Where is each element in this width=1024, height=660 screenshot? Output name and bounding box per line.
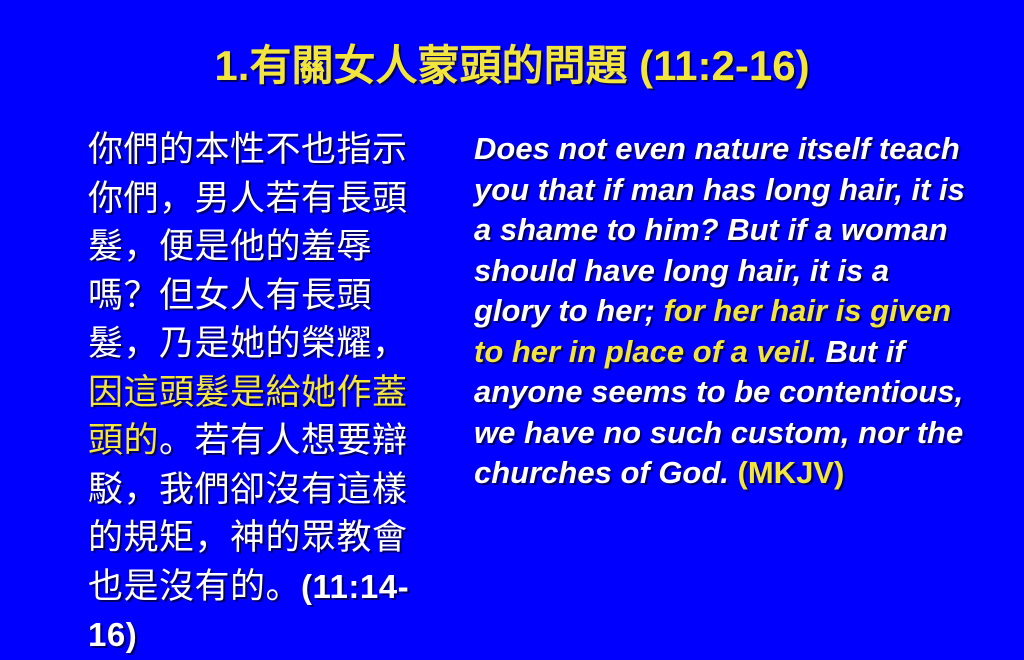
title-heading: 有關女人蒙頭的問題 <box>249 41 627 90</box>
title-number: 1. <box>214 42 249 89</box>
page-title: 1.有關女人蒙頭的問題 (11:2-16) <box>0 40 1024 92</box>
english-scripture-text: Does not even nature itself teach you th… <box>474 129 968 494</box>
presentation-slide: 1.有關女人蒙頭的問題 (11:2-16) 你們的本性不也指示你們，男人若有長頭… <box>0 0 1024 650</box>
chinese-scripture-text: 你們的本性不也指示你們，男人若有長頭髮，便是他的羞辱嗎？但女人有長頭髮，乃是她的… <box>88 126 410 660</box>
title-scripture-reference <box>627 42 639 89</box>
title-reference: (11:2-16) <box>639 42 809 89</box>
bible-version-label: (MKJV) <box>738 455 845 490</box>
chinese-segment-1: 你們的本性不也指示你們，男人若有長頭髮，便是他的羞辱嗎？但女人有長頭髮，乃是她的… <box>88 130 408 364</box>
slide-body: 你們的本性不也指示你們，男人若有長頭髮，便是他的羞辱嗎？但女人有長頭髮，乃是她的… <box>0 126 1024 596</box>
